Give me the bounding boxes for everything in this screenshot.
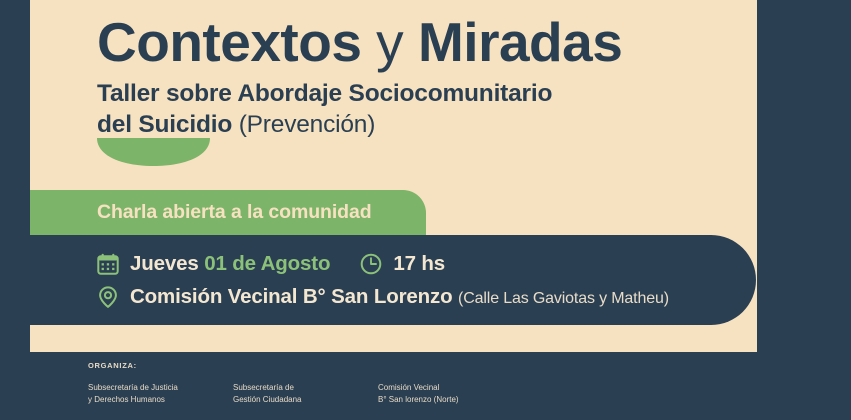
- event-date-row: Jueves 01 de Agosto 17 hs: [97, 247, 669, 280]
- event-date-value: 01 de Agosto: [204, 252, 330, 275]
- event-details-rows: Jueves 01 de Agosto 17 hs: [97, 247, 669, 313]
- event-date-weekday: Jueves: [130, 252, 204, 275]
- organizer-list: Subsecretaría de Justicia y Derechos Hum…: [88, 382, 523, 405]
- subtitle: Taller sobre Abordaje Sociocomunitariode…: [97, 78, 737, 141]
- organiza-label: ORGANIZA:: [88, 361, 137, 370]
- organizer-item: Comisión Vecinal B° San lorenzo (Norte): [378, 382, 523, 405]
- footer: ORGANIZA: Subsecretaría de Justicia y De…: [0, 352, 851, 420]
- subtitle-line-2: del Suicidio: [97, 111, 239, 138]
- event-time: 17 hs: [393, 252, 445, 276]
- title-word-secondary: Miradas: [418, 11, 622, 73]
- event-date: Jueves 01 de Agosto: [130, 252, 330, 276]
- subtitle-parenthetical: (Prevención): [239, 111, 376, 138]
- title-word-primary: Contextos: [97, 11, 361, 73]
- community-talk-banner: Charla abierta a la comunidad: [30, 190, 426, 235]
- headline-block: Contextos y Miradas Taller sobre Abordaj…: [97, 14, 737, 141]
- calendar-icon: [97, 253, 119, 275]
- event-venue-name: Comisión Vecinal B° San Lorenzo: [130, 285, 458, 308]
- event-poster: Contextos y Miradas Taller sobre Abordaj…: [0, 0, 851, 420]
- organizer-item: Subsecretaría de Justicia y Derechos Hum…: [88, 382, 233, 405]
- event-venue-address: (Calle Las Gaviotas y Matheu): [458, 290, 669, 307]
- subtitle-line-1: Taller sobre Abordaje Sociocomunitario: [97, 80, 552, 107]
- organizer-item: Subsecretaría de Gestión Ciudadana: [233, 382, 378, 405]
- event-details-pill: Jueves 01 de Agosto 17 hs: [0, 235, 756, 325]
- banner-label: Charla abierta a la comunidad: [97, 201, 372, 224]
- location-pin-icon: [97, 286, 119, 308]
- event-time-group: 17 hs: [360, 252, 445, 276]
- clock-icon: [360, 253, 382, 275]
- event-venue: Comisión Vecinal B° San Lorenzo (Calle L…: [130, 285, 669, 309]
- page-title: Contextos y Miradas: [97, 14, 737, 70]
- smile-arc-decoration: [97, 138, 210, 166]
- event-venue-row: Comisión Vecinal B° San Lorenzo (Calle L…: [97, 280, 669, 313]
- title-conjunction: y: [361, 11, 418, 73]
